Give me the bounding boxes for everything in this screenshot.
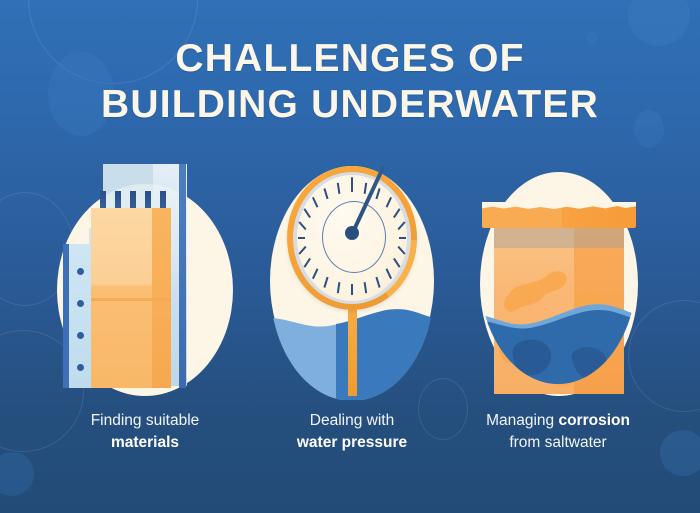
water-area <box>458 290 658 400</box>
caption-corrosion: Managing corrosion from saltwater <box>448 410 668 455</box>
caption-line-bold: water pressure <box>242 432 462 454</box>
panel-corrosion <box>458 160 658 400</box>
pillar-cap-beam-icon <box>482 206 636 228</box>
title-line-1: CHALLENGES OF <box>175 37 524 80</box>
water-waves-icon <box>458 290 658 400</box>
panels-row <box>0 160 700 400</box>
pillar-gray-band-icon <box>494 226 624 248</box>
page-title: CHALLENGES OF BUILDING UNDERWATER <box>0 36 700 128</box>
caption-line-2: from saltwater <box>448 432 668 454</box>
corroded-pillar-illustration <box>458 160 658 400</box>
caption-line-regular: Dealing with <box>242 410 462 432</box>
caption-materials: Finding suitable materials <box>35 410 255 455</box>
caption-regular-before: Managing <box>486 412 558 429</box>
plate-bolt-icon <box>77 332 84 339</box>
caption-line-1: Managing corrosion <box>448 410 668 432</box>
caption-water-pressure: Dealing with water pressure <box>242 410 462 455</box>
caption-line-bold: materials <box>35 432 255 454</box>
pressure-gauge-illustration <box>252 160 452 400</box>
plate-bolt-icon <box>77 364 84 371</box>
concrete-block-seam <box>91 298 171 301</box>
panel-water-pressure <box>252 160 452 400</box>
plate-rail-icon <box>63 244 69 388</box>
glass-edge-icon <box>179 164 186 388</box>
captions-row: Finding suitable materials Dealing with … <box>0 410 700 480</box>
panel-materials <box>45 160 245 400</box>
construction-materials-illustration <box>45 160 245 400</box>
gauge-needle-hub-icon <box>345 226 359 240</box>
caption-bold-word: corrosion <box>558 412 629 429</box>
infographic-poster: CHALLENGES OF BUILDING UNDERWATER <box>0 0 700 513</box>
plate-bolt-icon <box>77 300 84 307</box>
plate-bolt-icon <box>77 268 84 275</box>
title-line-2: BUILDING UNDERWATER <box>0 82 700 128</box>
caption-line-regular: Finding suitable <box>35 410 255 432</box>
